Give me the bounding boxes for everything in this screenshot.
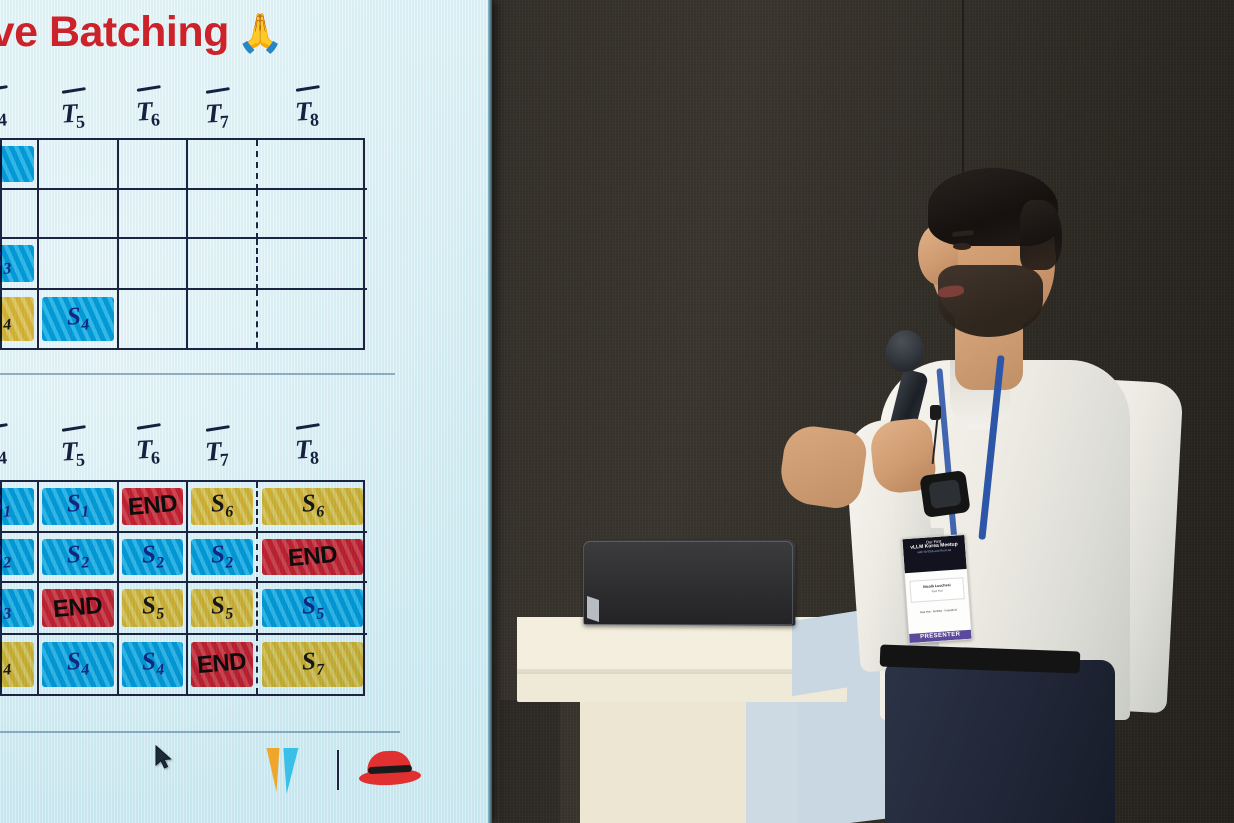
bottom-grid-cell-r1c3: END: [119, 482, 188, 533]
bottom-grid-cell-label: S4: [66, 648, 90, 681]
top-grid-cell-label: S4: [66, 302, 90, 335]
bottom-grid-cell-r1c5: S6: [258, 482, 367, 533]
bottom-grid-cell-label: END: [52, 592, 103, 624]
top-grid-column-header-t7: T7: [204, 97, 231, 129]
bottom-grid-cell-r2c2: S2: [39, 533, 119, 583]
projection-screen: ative Batching🙏 T4T5T6T7T8 S3S4S4 T4T5T6…: [0, 0, 492, 823]
podium-shadow: [500, 700, 560, 823]
top-grid-cell-r1c2: [39, 140, 119, 190]
top-grid-cell-r2c3: [119, 190, 188, 239]
bottom-grid-cell-r2c1: S2: [0, 533, 39, 583]
bottom-grid-cell-label: S3: [0, 591, 12, 624]
bottom-grid-cell-label: S6: [300, 490, 324, 523]
red-hat-logo: [359, 749, 421, 791]
bottom-grid-cell-r3c2: END: [39, 583, 119, 635]
bottom-grid-cell-r2c3: S2: [119, 533, 188, 583]
badge-sponsors: Red Hat · NVIDIA · Friendli AI: [907, 607, 969, 615]
top-grid-cell-r3c3: [119, 239, 188, 290]
bottom-grid-cell-label: S2: [210, 540, 234, 573]
top-grid-cell-r3c1: S3: [0, 239, 39, 290]
bottom-grid-cell-label: END: [287, 541, 338, 573]
top-grid-cell-r4c3: [119, 290, 188, 348]
bottom-grid-cell-r3c4: S5: [188, 583, 258, 635]
bottom-grid-column-header-t7: T7: [204, 435, 231, 467]
top-grid-headers: T4T5T6T7T8: [0, 92, 370, 132]
top-grid-cell-r4c1: S4: [0, 290, 39, 348]
bottom-grid: S1S1ENDS6S6S2S2S2S2ENDS3ENDS5S5S5S4S4S4E…: [0, 480, 365, 696]
top-grid-cell-r4c5: [258, 290, 367, 348]
bottom-grid-cell-label: END: [196, 648, 247, 680]
bottom-grid-cell-label: S2: [66, 540, 90, 573]
bottom-grid-headers: T4T5T6T7T8: [0, 430, 370, 470]
bottom-grid-cell-r1c2: S1: [39, 482, 119, 533]
bottom-grid-cell-r4c5: S7: [258, 635, 367, 694]
top-grid-cell-label: S3: [0, 247, 12, 280]
top-grid-column-header-t4: T4: [0, 95, 9, 127]
top-grid-cell-r4c4: [188, 290, 258, 348]
bottom-grid-cell-r3c3: S5: [119, 583, 188, 635]
bottom-grid-cell-r2c4: S2: [188, 533, 258, 583]
bottom-grid-column-header-t6: T6: [135, 433, 162, 465]
top-grid-cell-r1c5: [258, 140, 367, 190]
bottom-grid-cell-label: S4: [0, 648, 12, 681]
bottom-grid-cell-r3c1: S3: [0, 583, 39, 635]
slide-footer-logos: [265, 748, 421, 792]
bottom-grid-cell-label: S5: [300, 591, 324, 624]
top-grid-cell-r3c5: [258, 239, 367, 290]
top-grid-cell-r1c1: [0, 140, 39, 190]
bottom-grid-column-header-t5: T5: [60, 435, 87, 467]
slide-divider-1: [0, 373, 395, 375]
top-grid-cell-r1c3: [119, 140, 188, 190]
bottom-grid-cell-r4c3: S4: [119, 635, 188, 694]
bottom-grid-column-header-t8: T8: [294, 433, 321, 465]
bottom-grid-cell-label: END: [127, 490, 178, 522]
top-grid-cell-r2c4: [188, 190, 258, 239]
top-grid-column-header-t6: T6: [135, 95, 162, 127]
laptop-bezel: [583, 541, 793, 625]
top-grid-cell-highlight-blue: [0, 146, 34, 182]
top-grid-cell-r2c2: [39, 190, 119, 239]
vllm-logo-blue-wedge: [283, 748, 301, 794]
top-grid-cell-r3c4: [188, 239, 258, 290]
bottom-grid-cell-r1c4: S6: [188, 482, 258, 533]
laptop-stand: [587, 596, 599, 622]
bottom-grid-cell-label: S6: [210, 490, 234, 523]
top-grid-cell-r4c2: S4: [39, 290, 119, 348]
bottom-grid-cell-label: S1: [0, 490, 12, 523]
top-grid-panel: T4T5T6T7T8 S3S4S4: [0, 92, 370, 354]
bottom-grid-cell-r4c2: S4: [39, 635, 119, 694]
presenter-watch-face: [928, 479, 961, 509]
bottom-grid-cell-label: S7: [300, 648, 324, 681]
presenter-trousers: [885, 660, 1115, 823]
bottom-grid-cell-label: S5: [140, 591, 164, 624]
top-grid-column-header-t8: T8: [294, 95, 321, 127]
presenter-badge: Our First vLLM Korea Meetup with NVIDIA …: [901, 534, 972, 644]
top-grid-cell-r2c5: [258, 190, 367, 239]
bottom-grid-cell-r4c1: S4: [0, 635, 39, 694]
top-grid-cell-label: S4: [0, 302, 12, 335]
bottom-grid-column-header-t4: T4: [0, 433, 9, 465]
bottom-grid-cell-label: S1: [66, 490, 90, 523]
bottom-grid-cell-label: S2: [140, 540, 164, 573]
badge-name-plate: Nicolò Lucchesi Red Hat: [909, 577, 964, 603]
screen-right-edge: [488, 0, 492, 823]
top-grid-cell-r3c2: [39, 239, 119, 290]
bottom-grid-cell-r4c4: END: [188, 635, 258, 694]
bottom-grid-cell-r1c1: S1: [0, 482, 39, 533]
vllm-logo-yellow-wedge: [263, 748, 279, 792]
podium-column-side: [746, 700, 798, 823]
slide-title: ative Batching🙏: [0, 8, 284, 57]
presenter-hair-side: [1020, 200, 1062, 270]
bottom-grid-cell-label: S2: [0, 540, 12, 573]
screenshot-root: ative Batching🙏 T4T5T6T7T8 S3S4S4 T4T5T6…: [0, 0, 1234, 823]
top-grid-cell-r1c4: [188, 140, 258, 190]
bottom-grid-cell-r3c5: S5: [258, 583, 367, 635]
vllm-logo: [265, 748, 317, 792]
top-grid: S3S4S4: [0, 138, 365, 350]
bottom-grid-panel: T4T5T6T7T8 S1S1ENDS6S6S2S2S2S2ENDS3ENDS5…: [0, 430, 370, 700]
folded-hands-emoji: 🙏: [237, 13, 284, 55]
top-grid-cell-r2c1: [0, 190, 39, 239]
bottom-grid-cell-label: S4: [140, 648, 164, 681]
slide-divider-2: [0, 731, 400, 733]
presenter-eye: [953, 243, 971, 250]
top-grid-column-header-t5: T5: [60, 97, 87, 129]
slide-title-text: ative Batching: [0, 8, 229, 56]
bottom-grid-cell-r2c5: END: [258, 533, 367, 583]
badge-header: Our First vLLM Korea Meetup with NVIDIA …: [902, 535, 966, 573]
logo-separator: [337, 750, 339, 790]
bottom-grid-cell-label: S5: [210, 591, 234, 624]
